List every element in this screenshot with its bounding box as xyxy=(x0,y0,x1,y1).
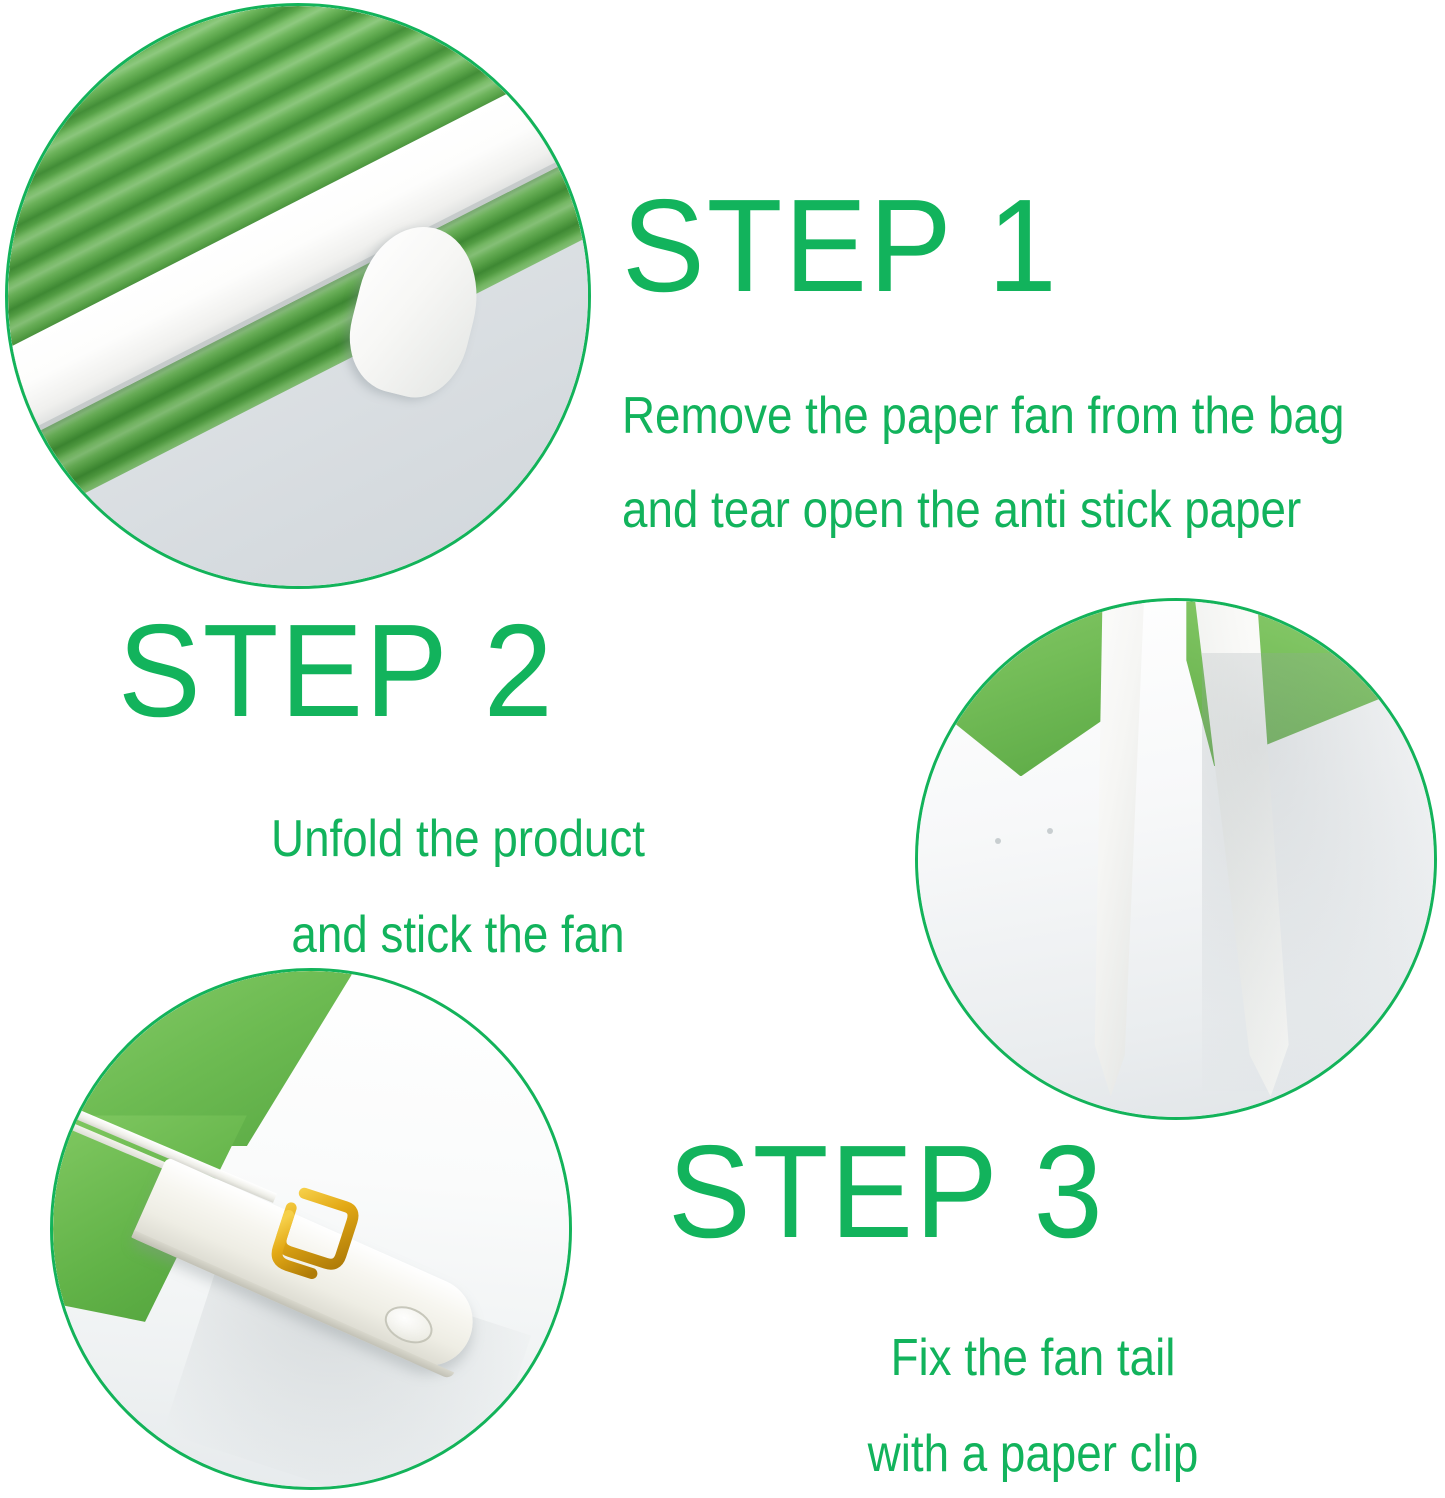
step-2-line-2: and stick the fan xyxy=(159,909,757,961)
step-2-line-1: Unfold the product xyxy=(159,813,757,865)
step-2-title: STEP 2 xyxy=(118,605,757,737)
step-2-text-block: STEP 2 Unfold the product and stick the … xyxy=(118,605,798,961)
step-1-text-block: STEP 1 Remove the paper fan from the bag… xyxy=(622,180,1443,536)
step-1-photo xyxy=(5,3,591,589)
step-3-line-2: with a paper clip xyxy=(712,1428,1354,1480)
photo-shadow xyxy=(1202,653,1434,1092)
step-3-photo xyxy=(50,968,572,1490)
step-2-photo-inner xyxy=(918,601,1434,1117)
step-1-title: STEP 1 xyxy=(622,180,1394,312)
step-3-line-1: Fix the fan tail xyxy=(712,1332,1354,1384)
step-1-line-1: Remove the paper fan from the bag xyxy=(622,390,1344,442)
step-1-line-2: and tear open the anti stick paper xyxy=(622,484,1344,536)
step-3-title: STEP 3 xyxy=(668,1126,1354,1258)
step-2-photo xyxy=(915,598,1437,1120)
step-3-photo-inner xyxy=(53,971,569,1487)
step-1-photo-inner xyxy=(8,6,588,586)
surface-speck xyxy=(1047,828,1053,834)
instruction-sheet: STEP 1 Remove the paper fan from the bag… xyxy=(0,0,1445,1498)
step-3-text-block: STEP 3 Fix the fan tail with a paper cli… xyxy=(668,1126,1398,1480)
